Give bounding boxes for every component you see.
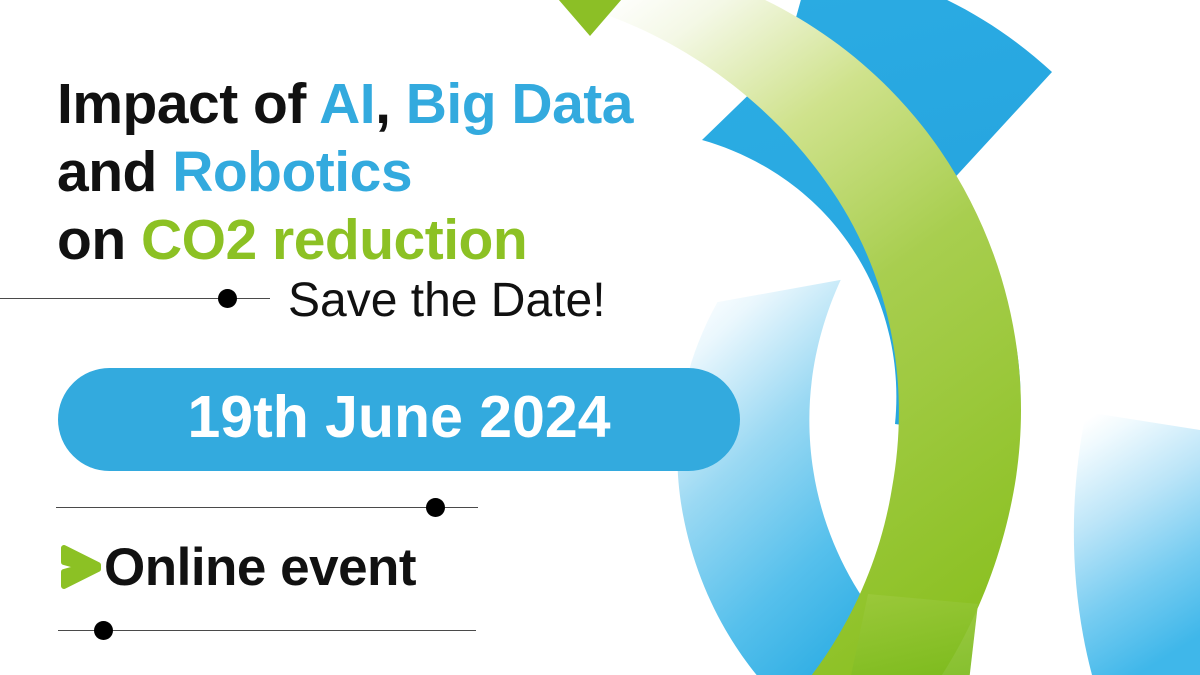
blue-arc-inner [778, 0, 1052, 185]
save-the-date-label: Save the Date! [288, 272, 606, 330]
title-seg-ai: AI [319, 72, 375, 136]
online-event-label: Online event [104, 541, 416, 594]
chevron-right-icon [58, 542, 102, 592]
page-title: Impact of AI, Big Data and Robotics on C… [57, 70, 817, 274]
title-line-2: and Robotics [57, 140, 412, 204]
green-triangle-icon [552, 0, 628, 36]
blue-arc-fade [671, 278, 904, 675]
title-seg-co2: CO2 reduction [141, 208, 527, 272]
title-seg: on [57, 208, 141, 272]
green-arc-lower [848, 594, 978, 675]
title-line-1: Impact of AI, Big Data [57, 72, 633, 136]
banner-canvas: Impact of AI, Big Data and Robotics on C… [0, 0, 1200, 675]
decorative-rule-bottom [58, 630, 476, 631]
title-seg-robotics: Robotics [172, 140, 412, 204]
decorative-rule-middle [56, 507, 478, 508]
event-date-badge[interactable]: 19th June 2024 [58, 368, 740, 471]
online-event-row: Online event [58, 532, 416, 602]
title-seg: and [57, 140, 172, 204]
title-line-3: on CO2 reduction [57, 208, 527, 272]
title-seg: Impact of [57, 72, 319, 136]
decorative-dot-middle [426, 498, 445, 517]
event-date-label: 19th June 2024 [187, 388, 610, 447]
blue-arc-outer [1074, 412, 1200, 675]
save-the-date-row: Save the Date! [0, 272, 760, 330]
title-seg: , [375, 72, 390, 136]
title-seg-bigdata: Big Data [390, 72, 633, 136]
decorative-dot-bottom [94, 621, 113, 640]
decorative-dot-top [218, 289, 237, 308]
